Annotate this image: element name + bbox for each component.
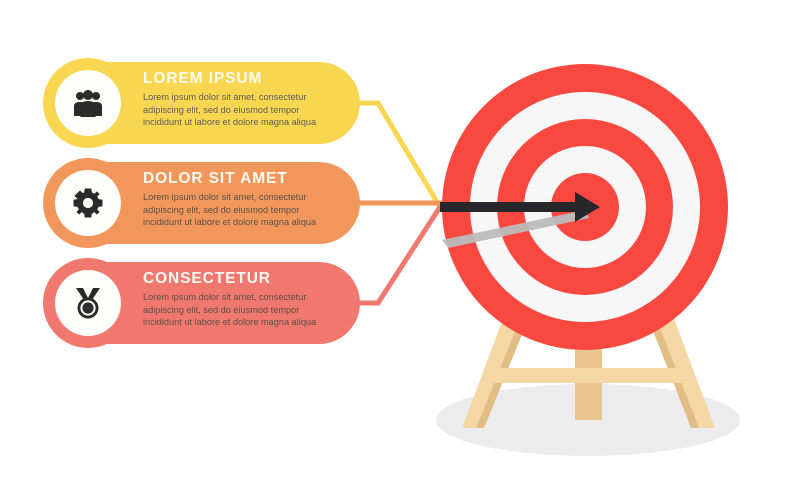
info-card-dolor-sit-amet[interactable]: DOLOR SIT AMET Lorem ipsum dolor sit ame…: [47, 162, 360, 244]
card-icon-disc: [43, 258, 133, 348]
people-group-icon: [72, 89, 104, 117]
card-body: CONSECTETUR Lorem ipsum dolor sit amet, …: [143, 269, 346, 329]
card-icon-disc: [43, 58, 133, 148]
medal-icon: [74, 287, 102, 319]
card-icon-disc: [43, 158, 133, 248]
card-icon-disc-inner: [55, 270, 121, 336]
card-description: Lorem ipsum dolor sit amet, consectetur …: [143, 191, 346, 229]
card-title: LOREM IPSUM: [143, 69, 346, 89]
stand-crossbar: [491, 368, 687, 383]
info-card-consectetur[interactable]: CONSECTETUR Lorem ipsum dolor sit amet, …: [47, 262, 360, 344]
info-card-lorem-ipsum[interactable]: LOREM IPSUM Lorem ipsum dolor sit amet, …: [47, 62, 360, 144]
card-icon-disc-inner: [55, 170, 121, 236]
card-title: CONSECTETUR: [143, 269, 346, 289]
card-icon-disc-inner: [55, 70, 121, 136]
arrow-shaft: [440, 202, 583, 212]
infographic-canvas: LOREM IPSUM Lorem ipsum dolor sit amet, …: [0, 0, 800, 486]
card-body: LOREM IPSUM Lorem ipsum dolor sit amet, …: [143, 69, 346, 129]
card-description: Lorem ipsum dolor sit amet, consectetur …: [143, 291, 346, 329]
gear-icon: [73, 188, 103, 218]
card-body: DOLOR SIT AMET Lorem ipsum dolor sit ame…: [143, 169, 346, 229]
card-description: Lorem ipsum dolor sit amet, consectetur …: [143, 91, 346, 129]
card-title: DOLOR SIT AMET: [143, 169, 346, 189]
